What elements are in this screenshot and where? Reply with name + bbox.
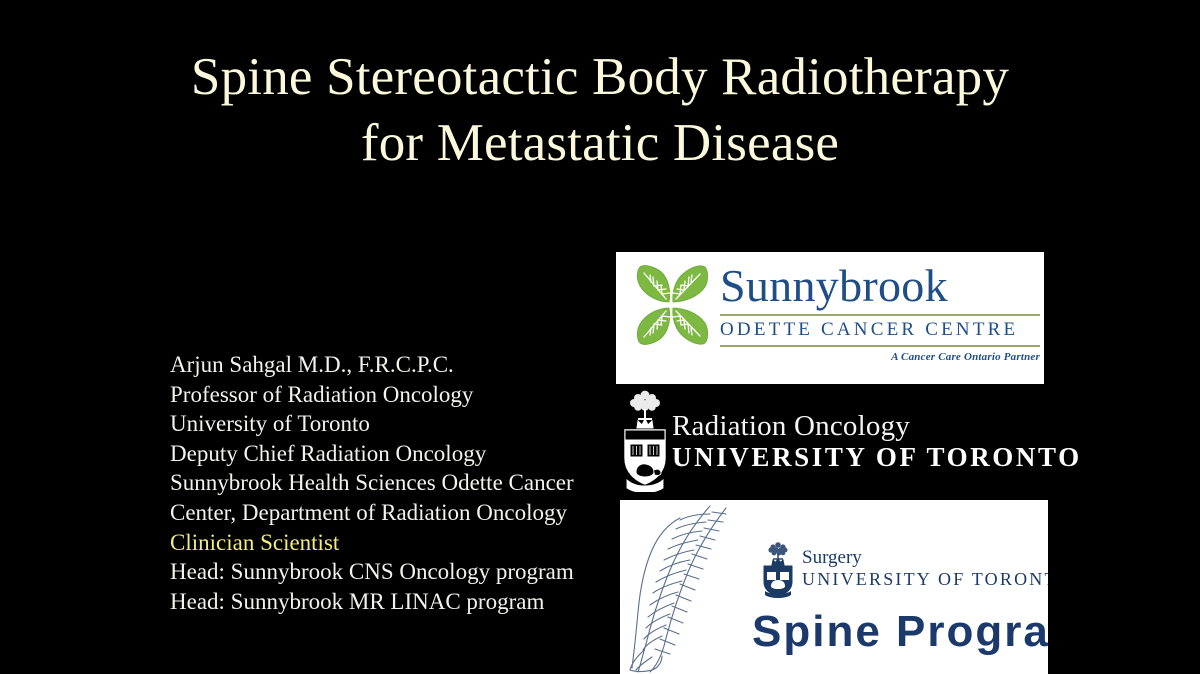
sunnybrook-text-lockup: Sunnybrook ODETTE CANCER CENTRE A Cancer… (720, 260, 1040, 384)
slide-title: Spine Stereotactic Body Radiotherapy for… (0, 44, 1200, 176)
four-leaf-cluster-icon (628, 264, 714, 346)
spine-university-label: UNIVERSITY OF TORONTO (802, 568, 1048, 590)
spine-illustration-icon (622, 502, 742, 674)
spine-program-logo: Surgery UNIVERSITY OF TORONTO Spine Prog… (620, 500, 1048, 674)
author-affiliation-line-1: Sunnybrook Health Sciences Odette Cancer (170, 468, 640, 498)
uoft-university-label: UNIVERSITY OF TORONTO (672, 442, 1082, 473)
author-university: University of Toronto (170, 409, 640, 439)
presentation-slide: Spine Stereotactic Body Radiotherapy for… (0, 0, 1200, 674)
sunnybrook-wordmark: Sunnybrook (720, 260, 1040, 312)
spine-surgery-label: Surgery (802, 548, 1048, 568)
author-role-head-cns: Head: Sunnybrook CNS Oncology program (170, 557, 640, 587)
author-role-clinician-scientist: Clinician Scientist (170, 528, 640, 558)
uoft-radiation-oncology-logo: Radiation Oncology UNIVERSITY OF TORONTO (614, 388, 1044, 492)
author-name: Arjun Sahgal M.D., F.R.C.P.C. (170, 350, 640, 380)
uoft-crest-icon (614, 388, 676, 492)
sunnybrook-logo: Sunnybrook ODETTE CANCER CENTRE A Cancer… (616, 252, 1044, 384)
sunnybrook-tagline: A Cancer Care Ontario Partner (720, 347, 1040, 363)
author-role-deputy-chief: Deputy Chief Radiation Oncology (170, 439, 640, 469)
uoft-text-lockup: Radiation Oncology UNIVERSITY OF TORONTO (672, 410, 1082, 473)
uoft-crest-icon (758, 542, 798, 598)
title-line-1: Spine Stereotactic Body Radiotherapy (0, 44, 1200, 110)
author-title: Professor of Radiation Oncology (170, 380, 640, 410)
spine-uoft-text-lockup: Surgery UNIVERSITY OF TORONTO (802, 548, 1048, 590)
uoft-department-label: Radiation Oncology (672, 410, 1082, 442)
author-role-head-mrlinac: Head: Sunnybrook MR LINAC program (170, 587, 640, 617)
spine-program-title: Spine Program (752, 608, 1048, 656)
title-line-2: for Metastatic Disease (0, 110, 1200, 176)
sunnybrook-subtitle: ODETTE CANCER CENTRE (720, 316, 1040, 342)
author-affiliation-block: Arjun Sahgal M.D., F.R.C.P.C. Professor … (170, 350, 640, 616)
author-affiliation-line-2: Center, Department of Radiation Oncology (170, 498, 640, 528)
